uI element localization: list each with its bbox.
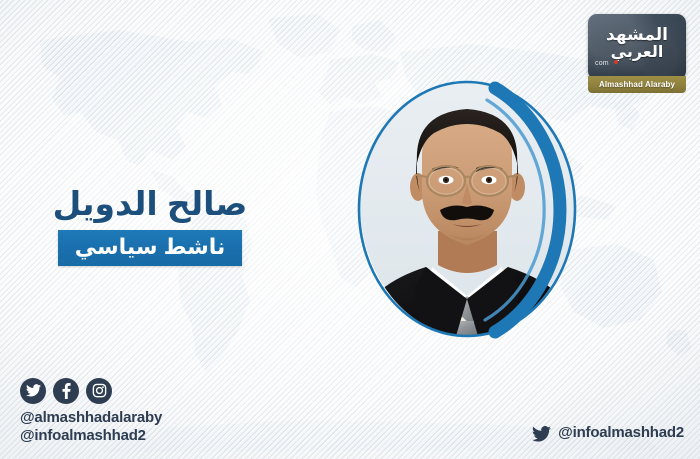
logo-red-dot-icon bbox=[614, 60, 618, 64]
social-media-card: المشهد العربي com Almashhad Alaraby bbox=[0, 0, 700, 459]
instagram-icon[interactable] bbox=[86, 378, 112, 404]
facebook-icon[interactable] bbox=[53, 378, 79, 404]
handle-primary[interactable]: @almashhadalaraby bbox=[20, 409, 162, 428]
status-badge: ناشط سياسي bbox=[58, 230, 243, 265]
twitter-icon[interactable] bbox=[532, 426, 551, 442]
handle-right[interactable]: @infoalmashhad2 bbox=[558, 424, 684, 443]
person-info: صالح الدويل ناشط سياسي bbox=[0, 186, 300, 266]
twitter-icon[interactable] bbox=[20, 378, 46, 404]
logo-com-label: com bbox=[595, 60, 609, 67]
portrait-container bbox=[345, 70, 615, 352]
handle-secondary[interactable]: @infoalmashhad2 bbox=[20, 427, 162, 446]
social-links-right: @infoalmashhad2 bbox=[532, 424, 684, 443]
social-icon-row bbox=[20, 378, 162, 404]
social-links-left: @almashhadalaraby @infoalmashhad2 bbox=[20, 378, 162, 447]
page-title: صالح الدويل bbox=[0, 186, 300, 222]
logo-arabic-text: المشهد العربي bbox=[588, 26, 686, 62]
logo-arabic-line1: المشهد bbox=[606, 25, 668, 44]
portrait-ring-decoration bbox=[345, 70, 615, 352]
